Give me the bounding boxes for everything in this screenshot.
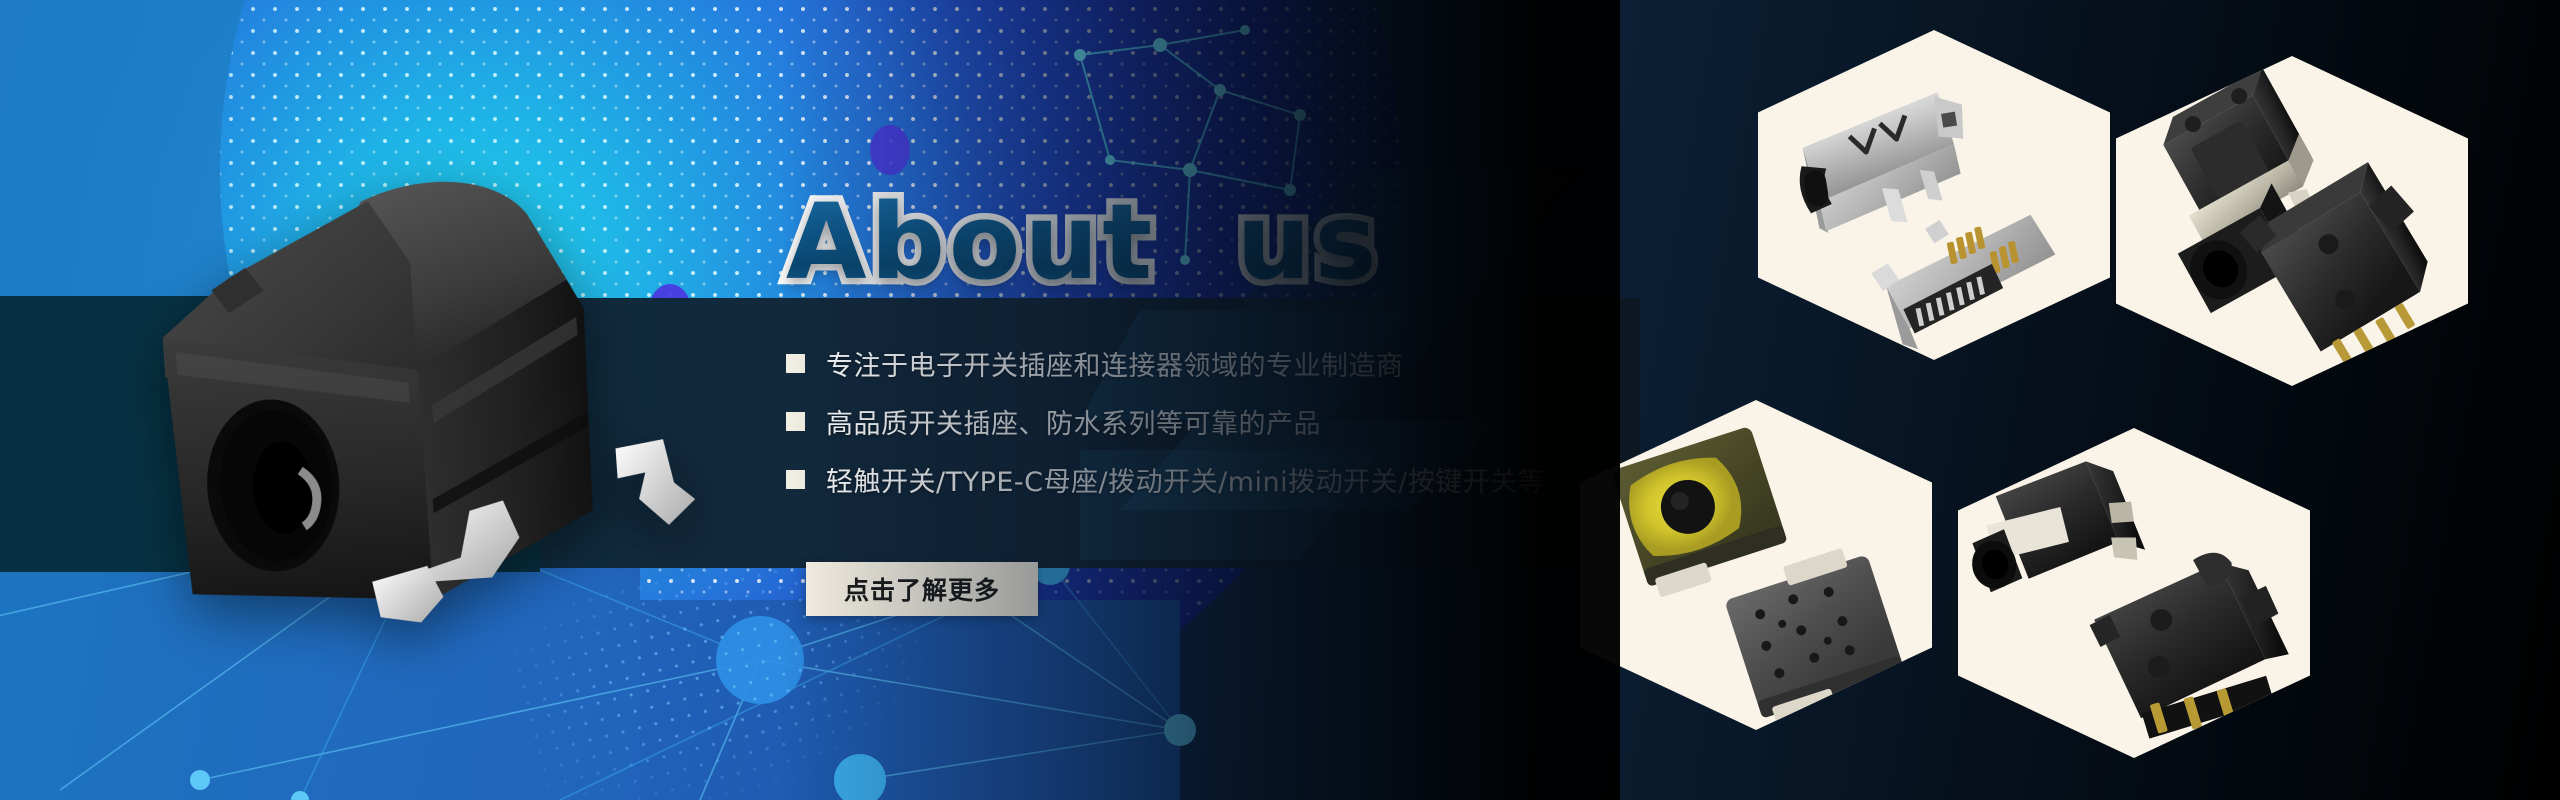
page-title-outline: About us: [786, 188, 1381, 297]
list-item-label: 轻触开关/TYPE-C母座/拨动开关/mini拨动开关/按键开关等: [826, 460, 1545, 499]
feature-list: 专注于电子开关插座和连接器领域的专业制造商 高品质开关插座、防水系列等可靠的产品…: [786, 345, 1506, 519]
hex-tile-tactile-switch[interactable]: [1580, 400, 1932, 730]
hex-tile-audio-jack[interactable]: [1958, 428, 2310, 758]
list-item: 高品质开关插座、防水系列等可靠的产品: [786, 403, 1506, 439]
square-bullet-icon: [786, 470, 805, 489]
square-bullet-icon: [786, 354, 805, 373]
hex-tile-dc-power-jack[interactable]: [2116, 56, 2468, 386]
usb-type-c-female-connector-icon: [1758, 30, 2110, 360]
hex-tile-usb-type-c[interactable]: [1758, 30, 2110, 360]
list-item-label: 高品质开关插座、防水系列等可靠的产品: [826, 402, 1321, 441]
hero-product-dc-power-jack: [104, 150, 735, 661]
product-hex-gallery: [1520, 0, 2560, 800]
list-item-label: 专注于电子开关插座和连接器领域的专业制造商: [826, 344, 1404, 383]
list-item: 专注于电子开关插座和连接器领域的专业制造商: [786, 345, 1506, 381]
about-us-banner: About us About us 专注于电子开关插座和连接器领域的专业制造商 …: [0, 0, 2560, 800]
tactile-switch-smd-icon: [1580, 400, 1932, 730]
audio-phone-jack-connector-icon: [1958, 428, 2310, 758]
learn-more-button[interactable]: 点击了解更多: [806, 562, 1038, 616]
square-bullet-icon: [786, 412, 805, 431]
list-item: 轻触开关/TYPE-C母座/拨动开关/mini拨动开关/按键开关等: [786, 461, 1506, 497]
dc-power-jack-black-connector-icon: [2116, 56, 2468, 386]
learn-more-button-label: 点击了解更多: [844, 571, 1000, 607]
